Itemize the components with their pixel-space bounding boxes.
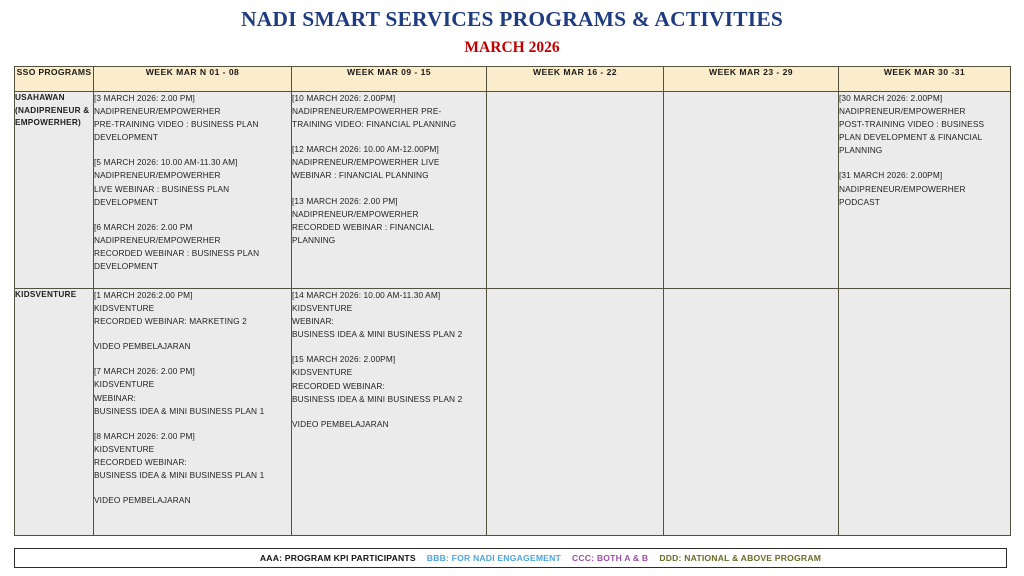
legend-item-bbb: BBB: FOR NADI ENGAGEMENT: [427, 553, 561, 563]
cell-kidsventure-week-3: [487, 289, 664, 536]
schedule-entry: VIDEO PEMBELAJARAN: [94, 340, 291, 353]
table-header: SSO PROGRAMS WEEK MAR N 01 - 08 WEEK MAR…: [15, 67, 1011, 92]
row-label-line: USAHAWAN: [15, 92, 93, 105]
schedule-entry: [8 MARCH 2026: 2.00 PM] KIDSVENTURE RECO…: [94, 430, 291, 482]
schedule-entry: [1 MARCH 2026:2.00 PM] KIDSVENTURE RECOR…: [94, 289, 291, 328]
cell-usahawan-week-4: [664, 92, 839, 289]
schedule-entry: [12 MARCH 2026: 10.00 AM-12.00PM] NADIPR…: [292, 143, 486, 182]
page-title: NADI SMART SERVICES PROGRAMS & ACTIVITIE…: [0, 6, 1024, 33]
row-label-line: KIDSVENTURE: [15, 289, 93, 302]
schedule-entry: VIDEO PEMBELAJARAN: [94, 494, 291, 507]
legend-item-aaa: AAA: PROGRAM KPI PARTICIPANTS: [260, 553, 416, 563]
cell-kidsventure-week-1: [1 MARCH 2026:2.00 PM] KIDSVENTURE RECOR…: [94, 289, 292, 536]
row-label-usahawan: USAHAWAN(NADIPRENEUR &EMPOWERHER): [15, 92, 94, 289]
row-label-kidsventure: KIDSVENTURE: [15, 289, 94, 536]
table-row: KIDSVENTURE [1 MARCH 2026:2.00 PM] KIDSV…: [15, 289, 1011, 536]
schedule-table: SSO PROGRAMS WEEK MAR N 01 - 08 WEEK MAR…: [14, 66, 1011, 536]
table-header-row: SSO PROGRAMS WEEK MAR N 01 - 08 WEEK MAR…: [15, 67, 1011, 92]
schedule-table-wrapper: SSO PROGRAMS WEEK MAR N 01 - 08 WEEK MAR…: [14, 66, 1010, 536]
cell-usahawan-week-2: [10 MARCH 2026: 2.00PM] NADIPRENEUR/EMPO…: [292, 92, 487, 289]
legend-items: AAA: PROGRAM KPI PARTICIPANTS BBB: FOR N…: [200, 553, 821, 563]
cell-kidsventure-week-2: [14 MARCH 2026: 10.00 AM-11.30 AM] KIDSV…: [292, 289, 487, 536]
schedule-entry: [3 MARCH 2026: 2.00 PM] NADIPRENEUR/EMPO…: [94, 92, 291, 144]
legend-item-ccc: CCC: BOTH A & B: [572, 553, 648, 563]
schedule-entry: [14 MARCH 2026: 10.00 AM-11.30 AM] KIDSV…: [292, 289, 486, 341]
row-label-line: (NADIPRENEUR &: [15, 105, 93, 118]
legend-item-ddd: DDD: NATIONAL & ABOVE PROGRAM: [659, 553, 821, 563]
column-header-week-5: WEEK MAR 30 -31: [839, 67, 1011, 92]
cell-kidsventure-week-5: [839, 289, 1011, 536]
column-header-week-2: WEEK MAR 09 - 15: [292, 67, 487, 92]
schedule-entry: [30 MARCH 2026: 2.00PM] NADIPRENEUR/EMPO…: [839, 92, 1010, 157]
column-header-week-1: WEEK MAR N 01 - 08: [94, 67, 292, 92]
title-block: NADI SMART SERVICES PROGRAMS & ACTIVITIE…: [0, 0, 1024, 57]
cell-usahawan-week-3: [487, 92, 664, 289]
cell-usahawan-week-1: [3 MARCH 2026: 2.00 PM] NADIPRENEUR/EMPO…: [94, 92, 292, 289]
schedule-entry: VIDEO PEMBELAJARAN: [292, 418, 486, 431]
table-body: USAHAWAN(NADIPRENEUR &EMPOWERHER) [3 MAR…: [15, 92, 1011, 536]
schedule-entry: [31 MARCH 2026: 2.00PM] NADIPRENEUR/EMPO…: [839, 169, 1010, 208]
row-label-line: EMPOWERHER): [15, 117, 93, 130]
cell-usahawan-week-5: [30 MARCH 2026: 2.00PM] NADIPRENEUR/EMPO…: [839, 92, 1011, 289]
schedule-entry: [7 MARCH 2026: 2.00 PM] KIDSVENTURE WEBI…: [94, 365, 291, 417]
page-subtitle: MARCH 2026: [0, 39, 1024, 58]
table-row: USAHAWAN(NADIPRENEUR &EMPOWERHER) [3 MAR…: [15, 92, 1011, 289]
column-header-sso-programs: SSO PROGRAMS: [15, 67, 94, 92]
column-header-week-3: WEEK MAR 16 - 22: [487, 67, 664, 92]
schedule-entry: [15 MARCH 2026: 2.00PM] KIDSVENTURE RECO…: [292, 353, 486, 405]
schedule-entry: [10 MARCH 2026: 2.00PM] NADIPRENEUR/EMPO…: [292, 92, 486, 131]
schedule-entry: [6 MARCH 2026: 2.00 PM NADIPRENEUR/EMPOW…: [94, 221, 291, 273]
schedule-entry: [13 MARCH 2026: 2.00 PM] NADIPRENEUR/EMP…: [292, 195, 486, 247]
legend-bar: AAA: PROGRAM KPI PARTICIPANTS BBB: FOR N…: [14, 548, 1007, 568]
schedule-entry: [5 MARCH 2026: 10.00 AM-11.30 AM] NADIPR…: [94, 156, 291, 208]
column-header-week-4: WEEK MAR 23 - 29: [664, 67, 839, 92]
cell-kidsventure-week-4: [664, 289, 839, 536]
